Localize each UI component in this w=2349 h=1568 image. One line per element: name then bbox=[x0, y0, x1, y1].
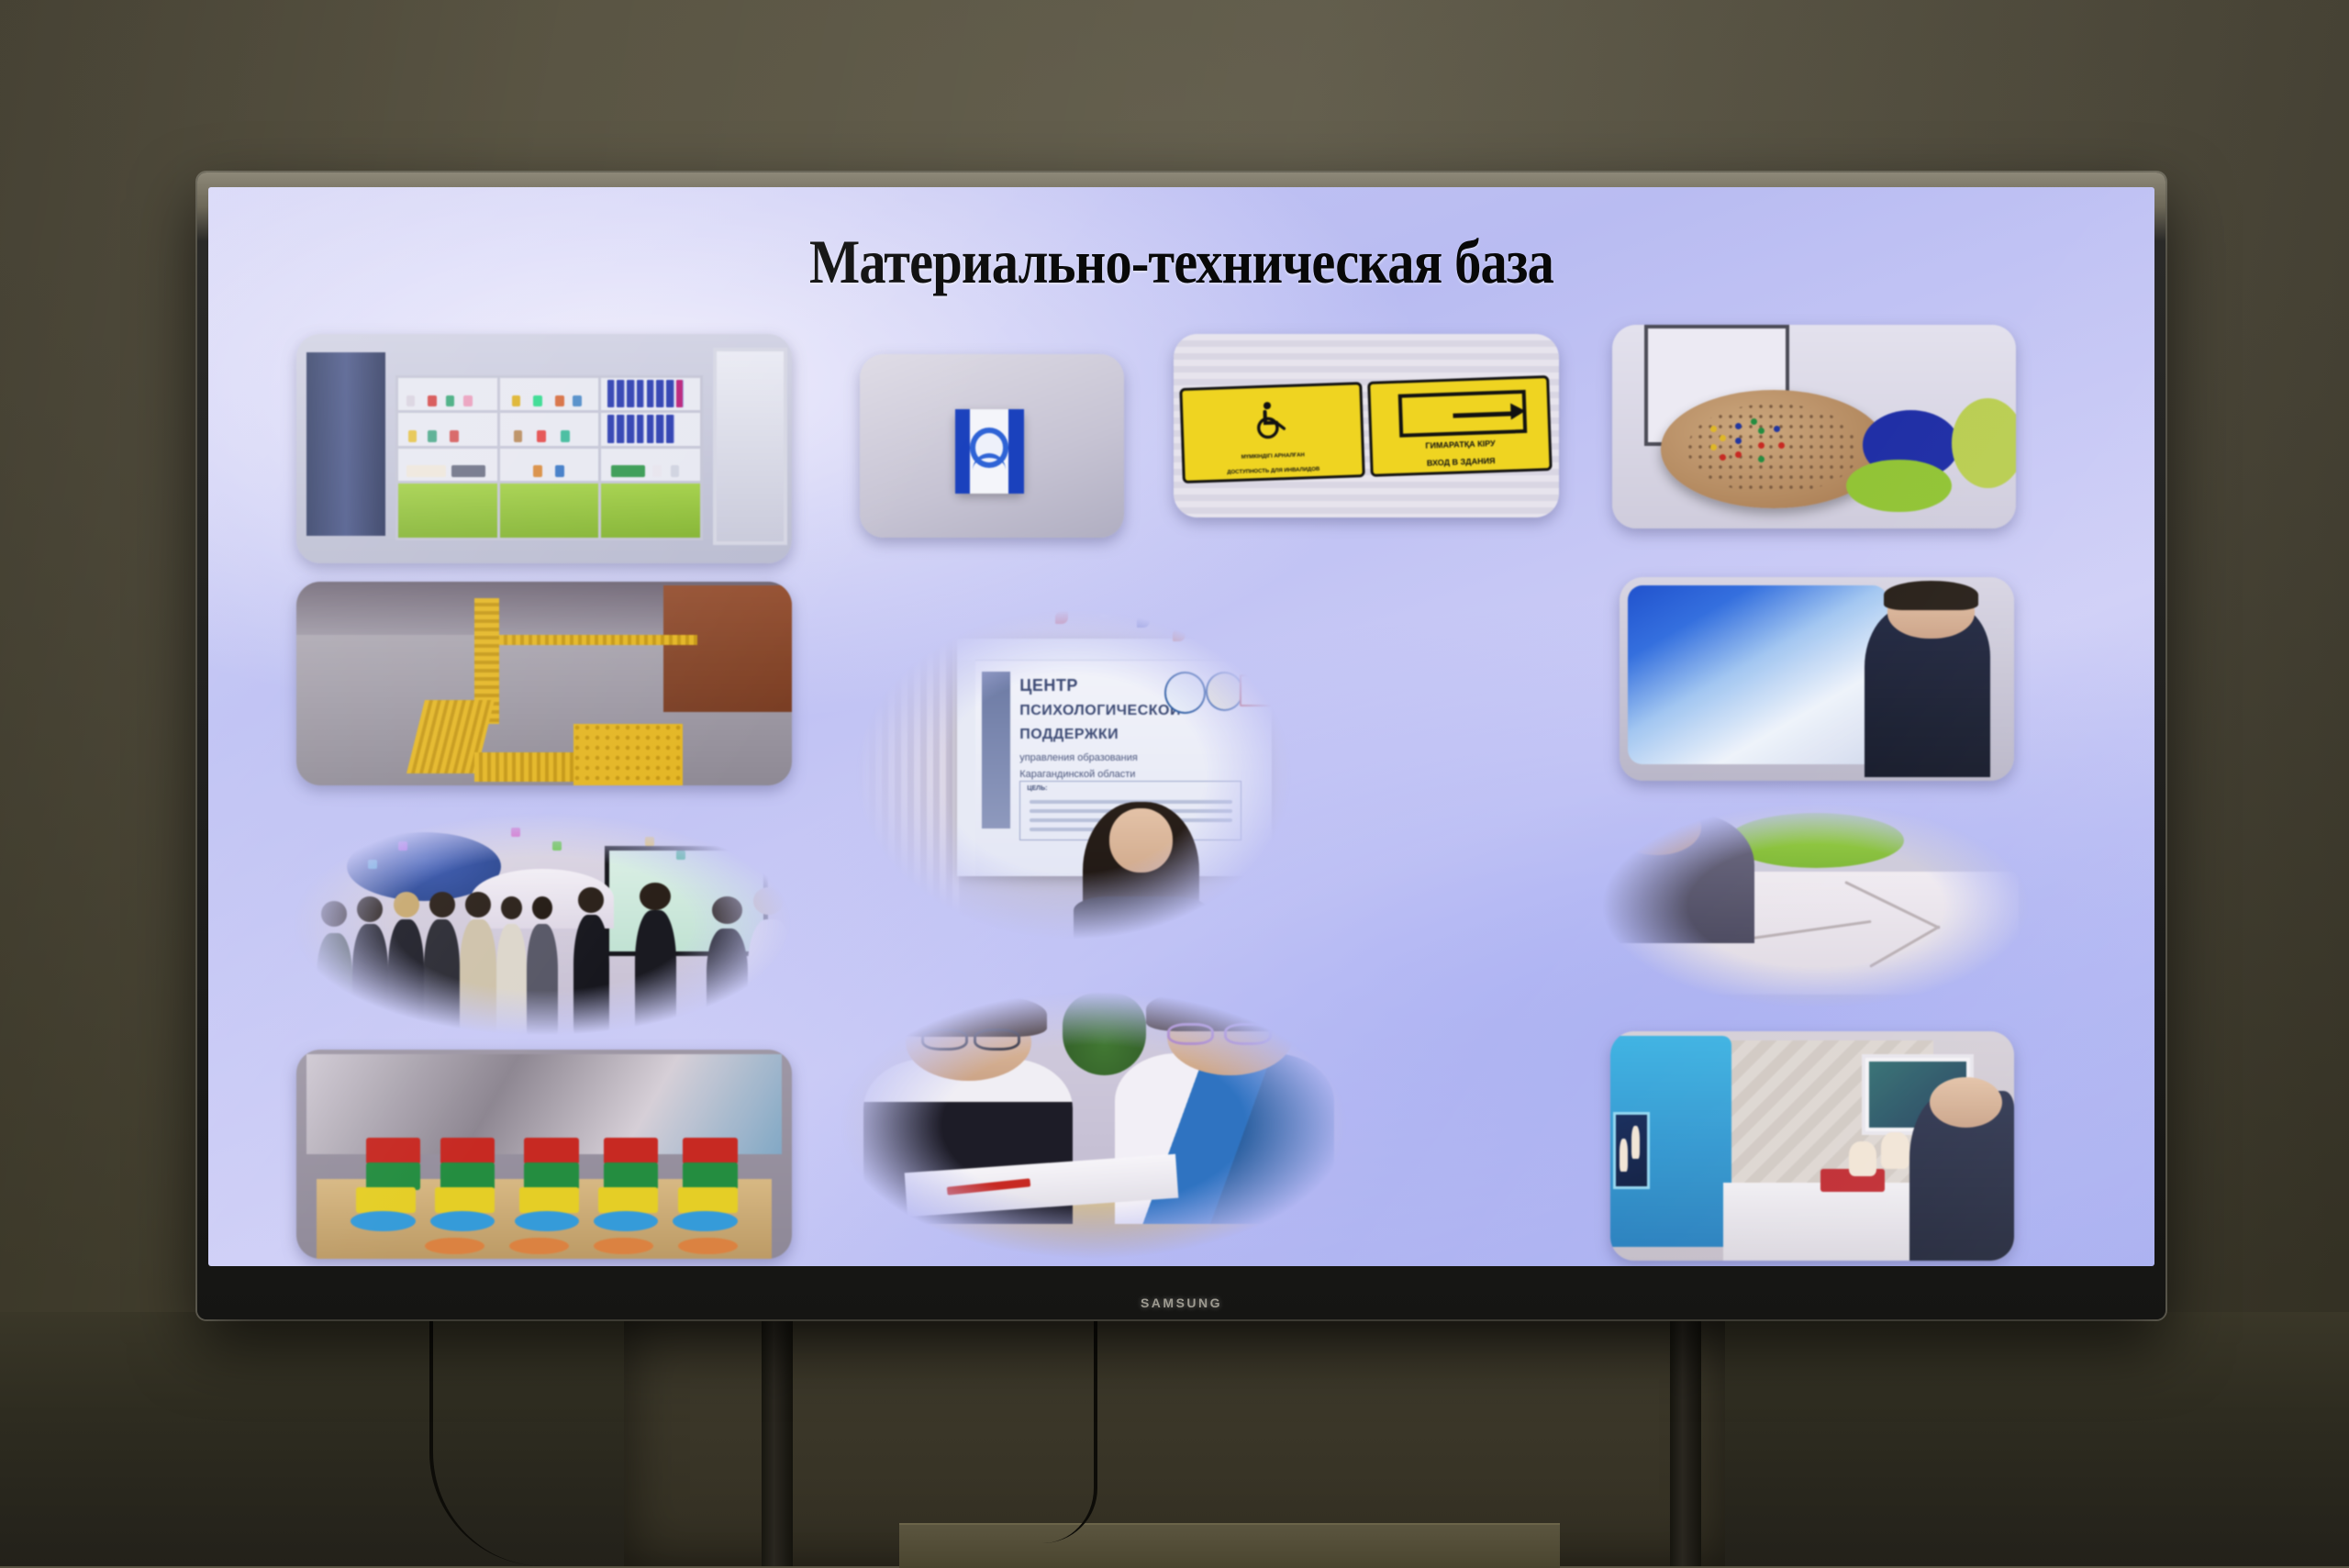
tv-brand-logo: SAMSUNG bbox=[1141, 1296, 1222, 1310]
photo-light-table-boy bbox=[1620, 577, 2014, 781]
photo-sand-drawing bbox=[1596, 800, 2036, 1011]
photo-call-button bbox=[860, 354, 1124, 538]
photo-tactile-paving bbox=[296, 582, 792, 785]
photo-two-girls-desk bbox=[832, 987, 1355, 1262]
goal-label: ЦЕЛЬ: bbox=[1027, 785, 1047, 792]
photo-pegboard-table bbox=[1612, 325, 2016, 528]
slide-center-line2: ПСИХОЛОГИЧЕСКОЙ bbox=[1019, 703, 1181, 719]
tv-stand-leg-right bbox=[1670, 1312, 1701, 1566]
sign-left-line2: ДОСТУПНОСТЬ ДЛЯ ИНВАЛИДОВ bbox=[1186, 465, 1363, 477]
tv-bezel: Материально-техническая база bbox=[197, 172, 2165, 1319]
photo-interactive-kiosk bbox=[1610, 1031, 2014, 1261]
sign-wheelchair-panel: МҮМКІНДІГІ АРНАЛҒАН ДОСТУПНОСТЬ ДЛЯ ИНВА… bbox=[1180, 382, 1365, 484]
room-background: Материально-техническая база bbox=[0, 0, 2349, 1566]
sign-right-line1: ГИМАРАТҚА КІРУ bbox=[1373, 438, 1550, 452]
sign-right-line2: ВХОД В ЗДАНИЯ bbox=[1373, 455, 1550, 470]
photo-presentation-center: ЦЕНТР ПСИХОЛОГИЧЕСКОЙ ПОДДЕРЖКИ управлен… bbox=[849, 605, 1298, 944]
sign-left-line1: МҮМКІНДІГІ АРНАЛҒАН bbox=[1185, 450, 1362, 462]
television: Материально-техническая база bbox=[197, 172, 2165, 1319]
page-title: Материально-техническая база bbox=[344, 226, 2018, 298]
presentation-slide: Материально-техническая база bbox=[208, 187, 2154, 1266]
photo-accessibility-sign: МҮМКІНДІГІ АРНАЛҒАН ДОСТУПНОСТЬ ДЛЯ ИНВА… bbox=[1174, 334, 1559, 517]
tv-stand-leg-left bbox=[762, 1312, 793, 1566]
power-cable-right bbox=[974, 1314, 1097, 1543]
photo-sorting-blocks-main bbox=[296, 1050, 792, 1259]
arrow-icon bbox=[1399, 390, 1529, 438]
slide-center-line1: ЦЕНТР bbox=[1019, 676, 1078, 695]
sign-entrance-panel: ГИМАРАТҚА КІРУ ВХОД В ЗДАНИЯ bbox=[1367, 375, 1553, 477]
photo-seminar-group bbox=[285, 809, 799, 1039]
slide-center-line4: управления образования bbox=[1019, 752, 1138, 763]
slide-center-line3: ПОДДЕРЖКИ bbox=[1019, 727, 1119, 743]
photo-shelving-room bbox=[296, 334, 792, 563]
slide-center-line5: Карагандинской области bbox=[1019, 769, 1135, 780]
wheelchair-icon bbox=[1236, 399, 1308, 441]
